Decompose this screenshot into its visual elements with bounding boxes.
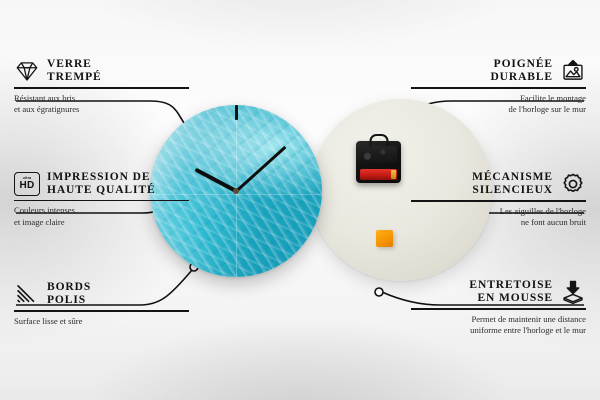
gear-icon (560, 171, 586, 197)
foam-spacer (376, 230, 393, 247)
feature-title-line2: POLIS (47, 294, 91, 307)
feature-description: Permet de maintenir une distance uniform… (411, 314, 586, 337)
feature-divider (14, 200, 189, 202)
polished-edges-icon (14, 281, 40, 307)
battery (360, 169, 397, 180)
clock-tick (235, 105, 237, 191)
picture-hanger-icon (560, 58, 586, 84)
feature-title-line1: BORDS (47, 281, 91, 294)
feature-divider (411, 200, 586, 202)
feature-impression-haute-qualite: ultra HD IMPRESSION DE HAUTE QUALITÉ Cou… (14, 171, 189, 229)
product-infographic: VERRE TREMPÉ Résistant aux bris et aux é… (0, 0, 600, 400)
ultra-hd-icon: ultra HD (14, 172, 40, 196)
callout-dot-entretoise (375, 288, 383, 296)
feature-title-line2: DURABLE (490, 71, 553, 84)
clock-mechanism (356, 141, 401, 183)
feature-title-line2: HAUTE QUALITÉ (47, 184, 156, 197)
feature-description: Facilite le montage de l'horloge sur le … (411, 93, 586, 116)
feature-mecanisme-silencieux: MÉCANISME SILENCIEUX Les aiguilles de l'… (411, 171, 586, 229)
feature-entretoise-en-mousse: ENTRETOISE EN MOUSSE Permet de maintenir… (411, 279, 586, 337)
feature-description: Résistant aux bris et aux égratignures (14, 93, 189, 116)
ultra-hd-icon-large-text: HD (19, 181, 34, 191)
feature-divider (411, 308, 586, 310)
feature-title-line1: ENTRETOISE (469, 279, 553, 292)
feature-divider (14, 310, 189, 312)
diamond-icon (14, 58, 40, 84)
feature-title-line1: IMPRESSION DE (47, 171, 156, 184)
clock-center-cap (233, 188, 239, 194)
feature-title-line2: SILENCIEUX (472, 184, 553, 197)
feature-verre-trempe: VERRE TREMPÉ Résistant aux bris et aux é… (14, 58, 189, 116)
feature-divider (411, 87, 586, 89)
mechanism-body (360, 146, 397, 163)
feature-title-line1: MÉCANISME (472, 171, 553, 184)
feature-bords-polis: BORDS POLIS Surface lisse et sûre (14, 281, 189, 327)
feature-description: Surface lisse et sûre (14, 316, 189, 328)
feature-poignee-durable: POIGNÉE DURABLE Facilite le montage de l… (411, 58, 586, 116)
feature-title-line1: VERRE (47, 58, 102, 71)
feature-description: Couleurs intenses et image claire (14, 205, 189, 228)
foam-spacer-icon (560, 279, 586, 305)
feature-description: Les aiguilles de l'horloge ne font aucun… (411, 206, 586, 229)
feature-title-line2: TREMPÉ (47, 71, 102, 84)
feature-divider (14, 87, 189, 89)
feature-title-line2: EN MOUSSE (469, 292, 553, 305)
feature-title-line1: POIGNÉE (490, 58, 553, 71)
